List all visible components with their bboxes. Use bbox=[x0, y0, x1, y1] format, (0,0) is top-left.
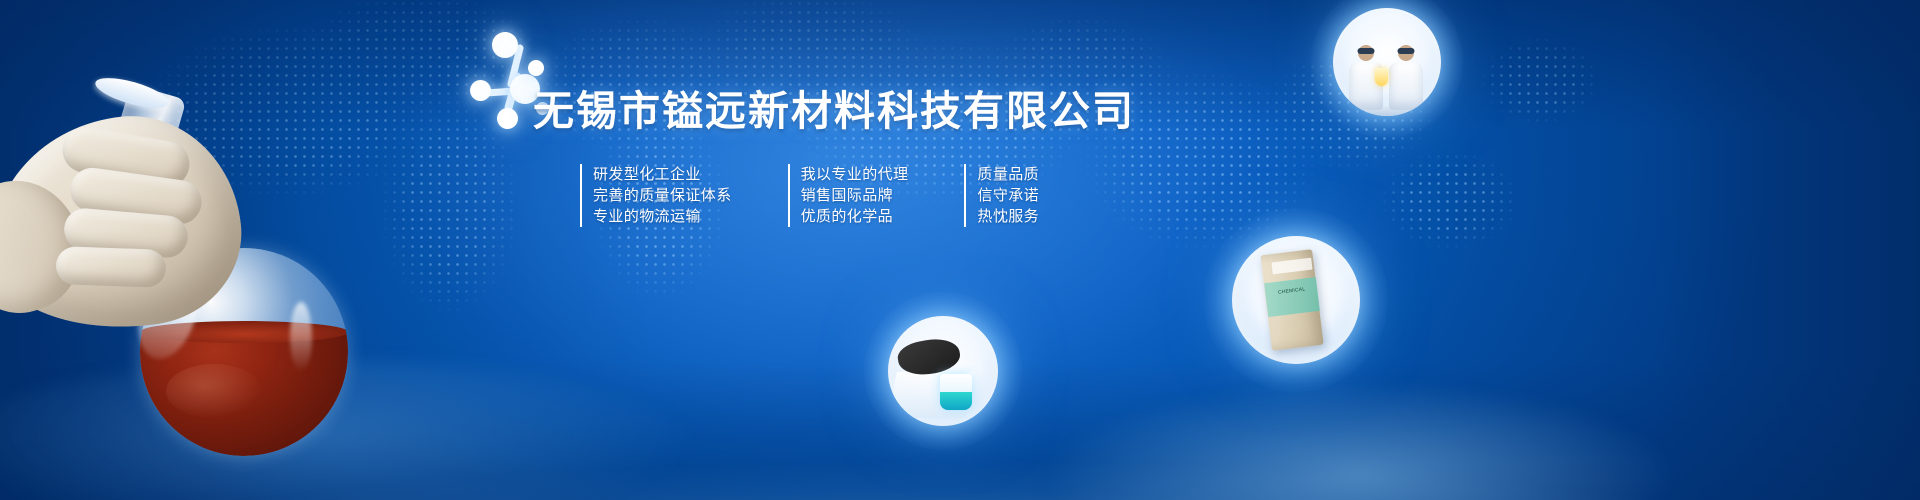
feature-line: 信守承诺 bbox=[977, 185, 1039, 206]
flask-highlight-secondary bbox=[290, 302, 312, 372]
feature-line: 我以专业的代理 bbox=[801, 164, 909, 185]
gloved-hand-holding-flask-photo bbox=[0, 88, 420, 500]
safety-goggles-icon bbox=[1398, 48, 1415, 54]
feature-line: 质量品质 bbox=[977, 164, 1039, 185]
feature-column-2: 我以专业的代理 销售国际品牌 优质的化学品 bbox=[788, 164, 909, 227]
molecule-node bbox=[492, 32, 518, 58]
lab-technicians-photo-bubble bbox=[1333, 8, 1441, 116]
glove-finger bbox=[55, 246, 166, 288]
molecule-node bbox=[497, 108, 518, 129]
bottom-right-beam bbox=[1040, 380, 1680, 500]
lab-coat bbox=[1389, 62, 1423, 110]
molecule-node bbox=[528, 60, 544, 76]
feature-line: 销售国际品牌 bbox=[801, 185, 909, 206]
feature-line: 热忱服务 bbox=[977, 206, 1039, 227]
gloved-hand-with-beaker-photo-bubble bbox=[888, 316, 998, 426]
feature-line: 专业的物流运输 bbox=[593, 206, 732, 227]
feature-columns: 研发型化工企业 完善的质量保证体系 专业的物流运输 我以专业的代理 销售国际品牌… bbox=[580, 164, 1039, 227]
feature-column-3: 质量品质 信守承诺 热忱服务 bbox=[964, 164, 1039, 227]
lab-technician bbox=[1389, 45, 1423, 110]
company-banner: 无锡市镒远新材料科技有限公司 研发型化工企业 完善的质量保证体系 专业的物流运输… bbox=[0, 0, 1920, 500]
erlenmeyer-flask-icon bbox=[1375, 68, 1388, 86]
feature-line: 完善的质量保证体系 bbox=[593, 185, 732, 206]
feature-column-1: 研发型化工企业 完善的质量保证体系 专业的物流运输 bbox=[580, 164, 732, 227]
safety-goggles-icon bbox=[1358, 48, 1375, 54]
molecule-node bbox=[470, 80, 491, 101]
feature-line: 研发型化工企业 bbox=[593, 164, 732, 185]
chemical-package-photo-bubble: CHEMICAL bbox=[1232, 236, 1360, 364]
feature-line: 优质的化学品 bbox=[801, 206, 909, 227]
package-label-band bbox=[1264, 277, 1320, 317]
beaker-liquid bbox=[940, 392, 972, 410]
page-title: 无锡市镒远新材料科技有限公司 bbox=[533, 91, 1135, 132]
